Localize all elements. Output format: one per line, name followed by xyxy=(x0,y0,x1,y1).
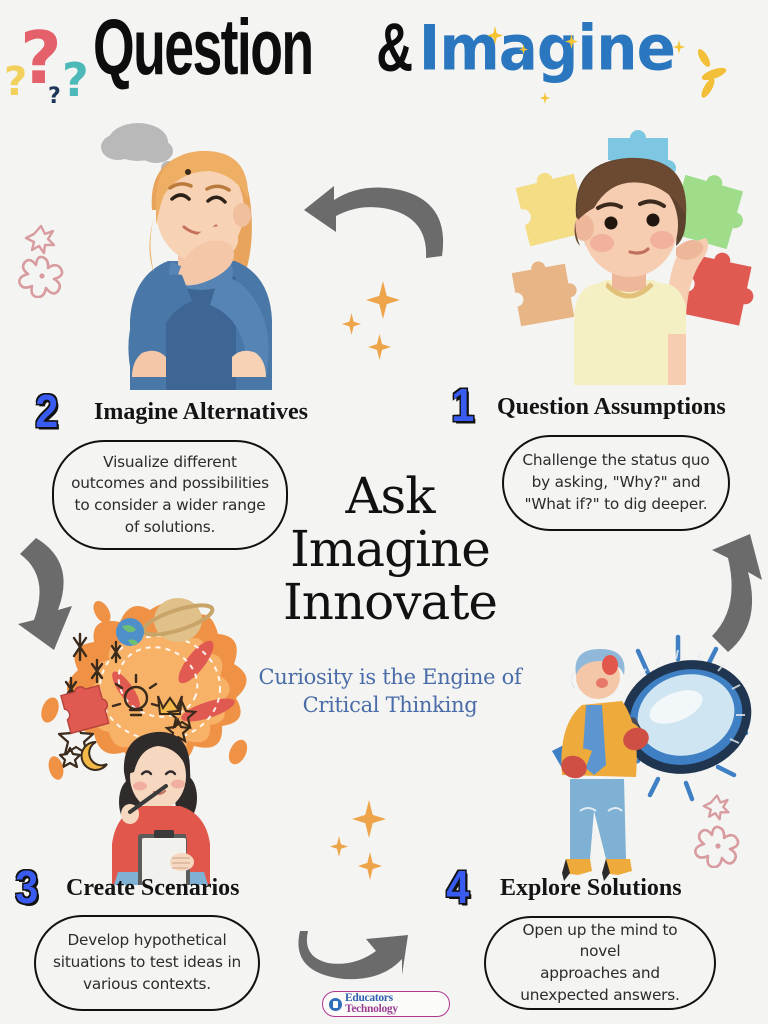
logo-line-2: Technology xyxy=(345,1004,398,1016)
title-imagine-word: Imagine xyxy=(419,16,675,79)
sparkle-center-top-2-icon xyxy=(342,313,361,335)
step-3-body-line2: situations to test ideas in xyxy=(53,953,241,971)
puzzle-piece-orange xyxy=(511,256,582,327)
step-2-number: 2 xyxy=(35,388,58,434)
center-subtitle-line2: Critical Thinking xyxy=(303,693,478,717)
infographic-poster: ? ? ? ? Question&Imagine xyxy=(0,0,768,1024)
poster-title: Question&Imagine xyxy=(0,14,768,114)
step-1-body-line2: by asking, "Why?" and xyxy=(532,473,701,491)
center-line-ask: Ask xyxy=(230,470,550,523)
step-4-title: Explore Solutions xyxy=(500,876,682,900)
step-4-body: Open up the mind to novel approaches and… xyxy=(500,920,700,1007)
center-subtitle-line1: Curiosity is the Engine of xyxy=(259,665,522,689)
arrow-top-right-to-left-icon xyxy=(300,180,448,260)
sparkle-center-top-1-icon xyxy=(366,281,400,319)
flower-doodle-top-left-small-icon xyxy=(24,222,58,256)
arrow-bottom-left-to-right-icon xyxy=(296,925,408,987)
step-3-body-line1: Develop hypothetical xyxy=(67,931,226,949)
step-3-number: 3 xyxy=(15,864,38,910)
step-3-title: Create Scenarios xyxy=(66,876,240,900)
illustration-man-questioning xyxy=(490,120,760,385)
logo-text: Educators Technology xyxy=(345,993,398,1016)
title-ampersand: & xyxy=(377,13,414,82)
title-question-word: Question xyxy=(93,8,312,87)
illustration-woman-daydreaming xyxy=(60,115,320,390)
step-4-number: 4 xyxy=(446,864,469,910)
step-1-title: Question Assumptions xyxy=(497,395,726,419)
step-2-title: Imagine Alternatives xyxy=(94,400,308,424)
educators-technology-logo[interactable]: Educators Technology xyxy=(322,991,450,1017)
step-1-number: 1 xyxy=(451,382,474,428)
logo-badge-icon xyxy=(329,998,342,1011)
step-4-body-line3: unexpected answers. xyxy=(520,986,679,1004)
sparkle-center-bottom-2-icon xyxy=(330,836,348,857)
step-4-bubble: Open up the mind to novel approaches and… xyxy=(484,916,716,1010)
illustration-woman-idea-explosion xyxy=(30,590,280,885)
title-burst-icon xyxy=(692,48,736,100)
step-3-bubble: Develop hypothetical situations to test … xyxy=(34,915,260,1011)
step-1-body-line3: "What if?" to dig deeper. xyxy=(525,495,708,513)
flower-doodle-top-left-large-icon xyxy=(18,252,66,298)
step-2-body-line1: Visualize different xyxy=(103,453,237,471)
step-1-body-line1: Challenge the status quo xyxy=(522,451,709,469)
step-3-body-line3: various contexts. xyxy=(83,975,211,993)
step-3-body: Develop hypothetical situations to test … xyxy=(53,930,241,995)
sparkle-center-bottom-1-icon xyxy=(352,800,386,838)
step-1-body: Challenge the status quo by asking, "Why… xyxy=(522,450,709,515)
step-4-body-line2: approaches and xyxy=(540,964,660,982)
flower-doodle-bottom-right-large-icon xyxy=(694,822,742,868)
center-line-imagine: Imagine xyxy=(230,523,550,576)
sparkle-center-top-3-icon xyxy=(368,334,391,360)
flower-doodle-bottom-right-small-icon xyxy=(702,792,732,822)
step-2-body-line4: of solutions. xyxy=(125,518,215,536)
sparkle-center-bottom-3-icon xyxy=(358,852,382,880)
step-4-body-line1: Open up the mind to novel xyxy=(523,921,678,961)
